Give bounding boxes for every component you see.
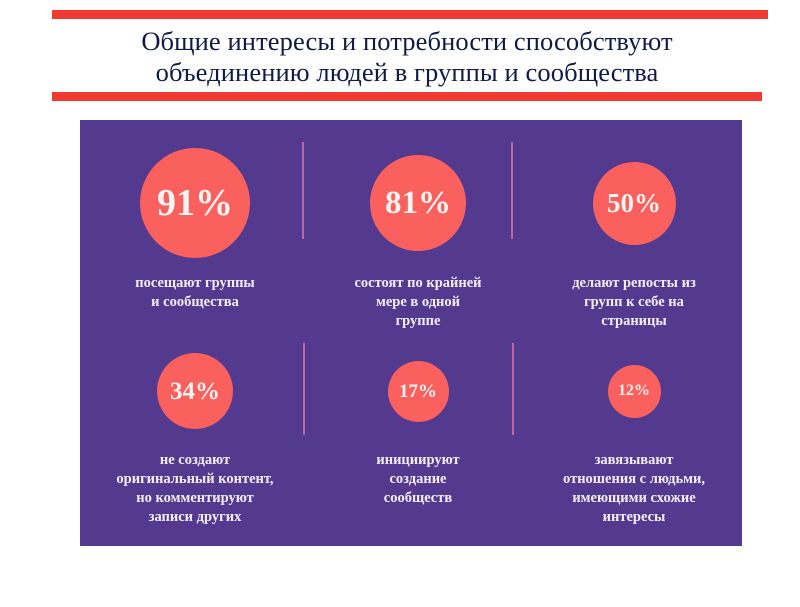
title-rule-bottom (52, 92, 762, 101)
stat-cell: 81% состоят по крайней мере в одной груп… (310, 120, 526, 333)
stat-bubble: 17% (388, 361, 449, 422)
stat-bubble: 34% (157, 353, 233, 429)
infographic-panel: 91% посещают группы и сообщества 81% сос… (80, 120, 742, 546)
stat-bubble: 50% (593, 162, 676, 245)
stat-cell: 34% не создают оригинальный контент, но … (80, 333, 310, 546)
bubble-wrapper: 50% (593, 142, 676, 264)
stat-value: 81% (385, 187, 451, 220)
bubble-wrapper: 12% (608, 345, 661, 437)
stat-cell: 17% инициируют создание сообществ (310, 333, 526, 546)
stat-caption: инициируют создание сообществ (370, 451, 465, 508)
stat-value: 34% (170, 379, 220, 404)
stat-bubble: 12% (608, 365, 661, 418)
bubble-wrapper: 34% (157, 345, 233, 437)
title-rule-top (52, 10, 768, 19)
stat-value: 12% (618, 383, 650, 399)
stat-value: 91% (157, 184, 233, 222)
stat-value: 17% (399, 382, 437, 401)
bubble-wrapper: 81% (370, 142, 466, 264)
stat-caption: завязывают отношения с людьми, имеющими … (557, 451, 711, 527)
stat-caption: посещают группы и сообщества (129, 274, 261, 312)
stat-caption: делают репосты из групп к себе на страни… (566, 274, 702, 331)
stat-cell: 12% завязывают отношения с людьми, имеющ… (526, 333, 742, 546)
page-title: Общие интересы и потребности способствую… (50, 26, 764, 88)
stats-row-bottom: 34% не создают оригинальный контент, но … (80, 333, 742, 546)
slide-root: Общие интересы и потребности способствую… (0, 0, 800, 607)
stats-row-top: 91% посещают группы и сообщества 81% сос… (80, 120, 742, 333)
stat-caption: состоят по крайней мере в одной группе (348, 274, 487, 331)
stat-cell: 50% делают репосты из групп к себе на ст… (526, 120, 742, 333)
bubble-wrapper: 17% (388, 345, 449, 437)
stat-cell: 91% посещают группы и сообщества (80, 120, 310, 333)
stat-bubble: 91% (140, 148, 250, 258)
stat-bubble: 81% (370, 155, 466, 251)
stat-value: 50% (607, 190, 661, 217)
bubble-wrapper: 91% (140, 142, 250, 264)
stat-caption: не создают оригинальный контент, но комм… (110, 451, 279, 527)
